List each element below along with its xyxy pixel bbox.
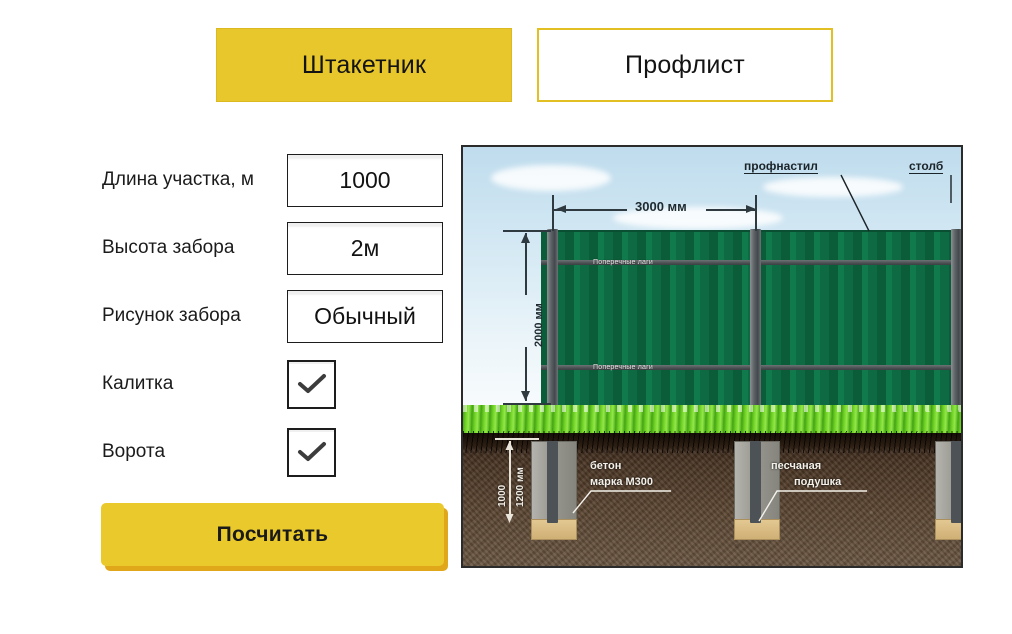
tab-proflist[interactable]: Профлист xyxy=(537,28,833,102)
label-height: Высота забора xyxy=(102,237,287,259)
tab-shtaketnik-label: Штакетник xyxy=(302,51,426,80)
cloud-icon xyxy=(491,165,611,191)
input-length[interactable]: 1000 xyxy=(287,154,443,207)
form-row-gate: Ворота xyxy=(102,418,447,486)
checkbox-gate[interactable] xyxy=(287,428,336,477)
dim-span-label: 3000 мм xyxy=(635,199,687,214)
callout-profnastil-leader xyxy=(741,173,871,235)
form-row-pattern: Рисунок забора Обычный xyxy=(102,282,447,350)
form-row-length: Длина участка, м 1000 xyxy=(102,146,447,214)
callout-stolb-leader xyxy=(907,173,963,235)
callout-sand-label: песчаная xyxy=(771,460,821,472)
checkbox-wicket[interactable] xyxy=(287,360,336,409)
callout-concrete-leader xyxy=(567,477,677,517)
select-height[interactable]: 2м xyxy=(287,222,443,275)
fence-post-left-buried xyxy=(547,441,558,523)
grass-highlight xyxy=(463,405,961,412)
dim-depth-post-label: 1200 мм xyxy=(515,467,526,507)
form-row-wicket: Калитка xyxy=(102,350,447,418)
calculator-form: Длина участка, м 1000 Высота забора 2м Р… xyxy=(102,146,447,486)
fence-post-right-buried xyxy=(951,441,962,523)
fence-diagram-image: Поперечные лаги Поперечные лаги 3000 мм … xyxy=(461,145,963,568)
calculate-button[interactable]: Посчитать xyxy=(101,503,444,566)
form-row-height: Высота забора 2м xyxy=(102,214,447,282)
tab-proflist-label: Профлист xyxy=(625,51,745,80)
dim-depth-concrete-label: 1000 xyxy=(497,485,508,507)
label-gate: Ворота xyxy=(102,441,287,463)
label-length: Длина участка, м xyxy=(102,169,287,191)
callout-sand-leader xyxy=(755,477,875,527)
select-pattern[interactable]: Обычный xyxy=(287,290,443,343)
dim-height-label: 2000 мм xyxy=(533,303,545,347)
rail-lower-label: Поперечные лаги xyxy=(593,364,653,371)
label-wicket: Калитка xyxy=(102,373,287,395)
check-icon xyxy=(297,440,327,464)
callout-profnastil-label: профнастил xyxy=(744,159,818,174)
callout-stolb-label: столб xyxy=(909,159,943,174)
callout-concrete-label: бетон xyxy=(590,460,621,472)
tab-bar: Штакетник Профлист xyxy=(216,28,833,102)
check-icon xyxy=(297,372,327,396)
tab-shtaketnik[interactable]: Штакетник xyxy=(216,28,512,102)
rail-upper-label: Поперечные лаги xyxy=(593,259,653,266)
label-pattern: Рисунок забора xyxy=(102,305,287,327)
